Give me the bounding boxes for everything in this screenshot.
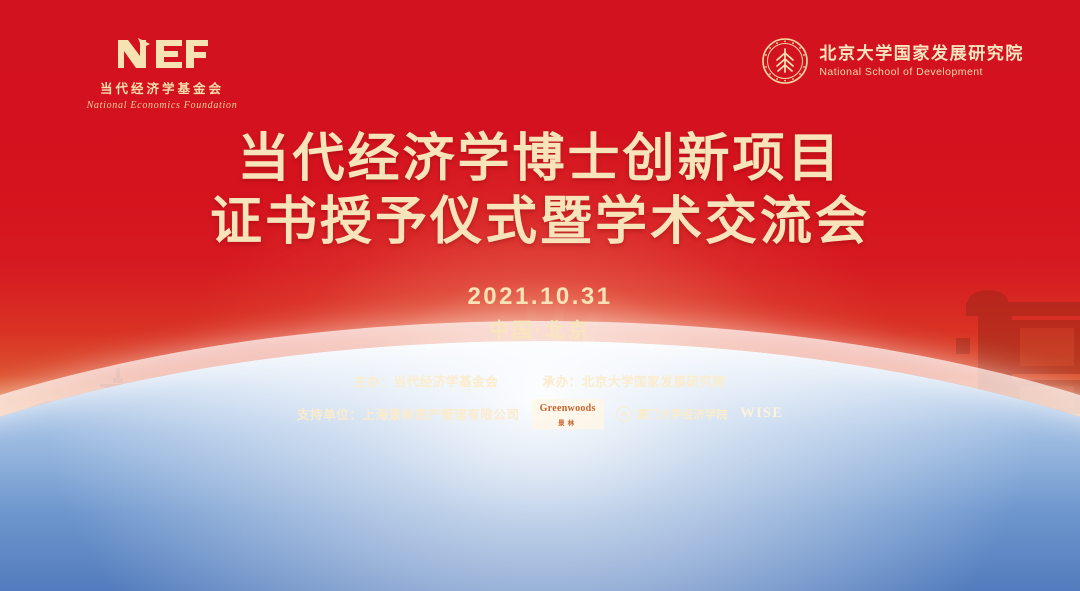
nef-logo: 当代经济学基金会 National Economics Foundation bbox=[62, 36, 262, 111]
greenwoods-logo: Greenwoods 景林 bbox=[532, 399, 604, 429]
xmu-seal-icon bbox=[616, 406, 632, 422]
nsd-name-en: National School of Development bbox=[819, 66, 1024, 79]
poster-title-line1: 当代经济学博士创新项目 bbox=[0, 128, 1080, 191]
xmu-name: 厦门大学经济学院 bbox=[637, 406, 728, 422]
greenwoods-name-cn: 景林 bbox=[558, 420, 577, 427]
pku-seal-icon bbox=[762, 38, 808, 84]
event-date: 2021.10.31 bbox=[0, 283, 1080, 311]
credits-block: 主办：当代经济学基金会 承办：北京大学国家发展研究院 支持单位：上海景林资产管理… bbox=[0, 371, 1080, 429]
nsd-name-cn: 北京大学国家发展研究院 bbox=[819, 43, 1024, 64]
xmu-logo: 厦门大学经济学院 bbox=[616, 406, 728, 422]
event-location: 中国·北京 bbox=[0, 314, 1080, 343]
event-poster: 当代经济学基金会 National Economics Foundation bbox=[0, 0, 1080, 591]
poster-title: 当代经济学博士创新项目 证书授予仪式暨学术交流会 bbox=[0, 128, 1080, 255]
nsd-logo: 北京大学国家发展研究院 National School of Developme… bbox=[762, 38, 1024, 84]
credit-organizer: 承办：北京大学国家发展研究院 bbox=[542, 371, 725, 390]
credits-row-supporters: 支持单位：上海景林资产管理有限公司 Greenwoods 景林 厦门大学经济学院… bbox=[0, 399, 1080, 429]
credits-row-hosts: 主办：当代经济学基金会 承办：北京大学国家发展研究院 bbox=[0, 371, 1080, 390]
poster-title-line2: 证书授予仪式暨学术交流会 bbox=[0, 191, 1080, 254]
nef-name-cn: 当代经济学基金会 bbox=[62, 78, 262, 97]
nef-name-en: National Economics Foundation bbox=[62, 100, 262, 111]
credit-host: 主办：当代经济学基金会 bbox=[354, 371, 498, 390]
credit-supporters-label: 支持单位：上海景林资产管理有限公司 bbox=[297, 404, 520, 423]
wise-logo: WISE bbox=[740, 405, 783, 422]
nsd-text: 北京大学国家发展研究院 National School of Developme… bbox=[819, 43, 1024, 79]
nef-monogram-icon bbox=[116, 36, 208, 70]
greenwoods-name-en: Greenwoods bbox=[540, 403, 596, 414]
